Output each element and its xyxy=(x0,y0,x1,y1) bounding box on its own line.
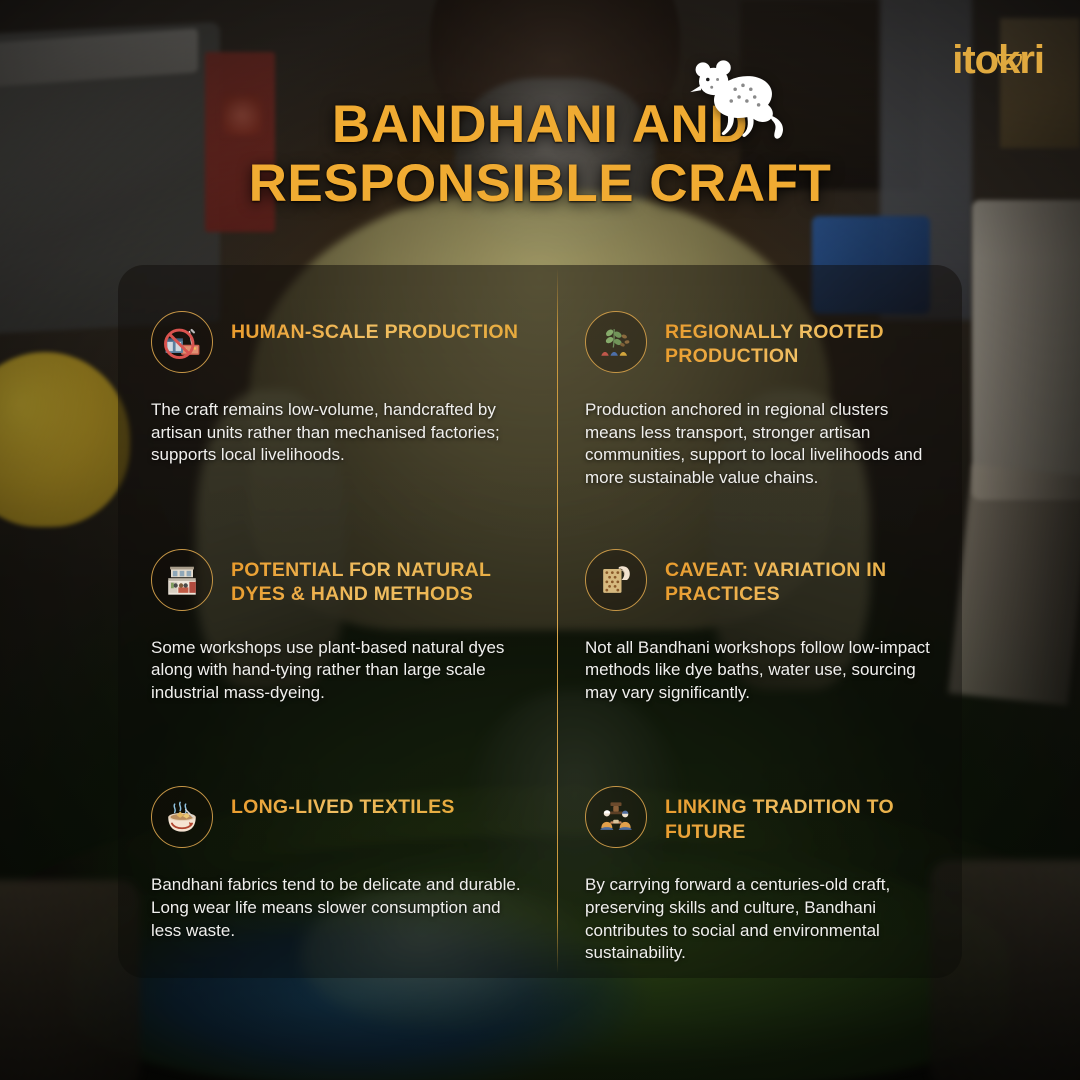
page-title: BANDHANI AND RESPONSIBLE CRAFT xyxy=(0,96,1080,214)
feature-body: Bandhani fabrics tend to be delicate and… xyxy=(151,874,527,942)
feature-body: Not all Bandhani workshops follow low-im… xyxy=(585,637,940,705)
two-artisans-icon xyxy=(585,786,647,848)
feature-title: LINKING TRADITION TO FUTURE xyxy=(665,786,940,843)
title-line-2: RESPONSIBLE CRAFT xyxy=(120,155,960,214)
feature-item-linking-tradition-to-future: LINKING TRADITION TO FUTURE By carrying … xyxy=(557,740,962,978)
feature-item-natural-dyes-hand-methods: POTENTIAL FOR NATURAL DYES & HAND METHOD… xyxy=(118,503,557,741)
feature-grid: HUMAN-SCALE PRODUCTION The craft remains… xyxy=(118,265,962,978)
feature-item-long-lived-textiles: LONG-LIVED TEXTILES Bandhani fabrics ten… xyxy=(118,740,557,978)
feature-body: Production anchored in regional clusters… xyxy=(585,399,940,489)
feature-header: LINKING TRADITION TO FUTURE xyxy=(585,786,940,848)
feature-body: The craft remains low-volume, handcrafte… xyxy=(151,399,527,467)
feature-item-regionally-rooted-production: REGIONALLY ROOTED PRODUCTION Production … xyxy=(557,265,962,503)
feature-header: CAVEAT: VARIATION IN PRACTICES xyxy=(585,549,940,611)
feature-item-human-scale-production: HUMAN-SCALE PRODUCTION The craft remains… xyxy=(118,265,557,503)
no-factory-icon xyxy=(151,311,213,373)
feature-title: REGIONALLY ROOTED PRODUCTION xyxy=(665,311,940,368)
brand-logo[interactable]: itokri xyxy=(952,40,1044,80)
seeds-and-dye-powders-icon xyxy=(585,311,647,373)
workshop-building-icon xyxy=(151,549,213,611)
feature-title: POTENTIAL FOR NATURAL DYES & HAND METHOD… xyxy=(231,549,527,606)
feature-header: POTENTIAL FOR NATURAL DYES & HAND METHOD… xyxy=(151,549,527,611)
feature-body: By carrying forward a centuries-old craf… xyxy=(585,874,940,964)
feature-title: CAVEAT: VARIATION IN PRACTICES xyxy=(665,549,940,606)
poster-title-block: BANDHANI AND RESPONSIBLE CRAFT xyxy=(0,96,1080,214)
infographic-poster: itokri BANDHANI AND RESPONSIBLE CRAFT xyxy=(0,0,1080,1080)
feature-item-caveat-variation: CAVEAT: VARIATION IN PRACTICES Not all B… xyxy=(557,503,962,741)
feature-header: LONG-LIVED TEXTILES xyxy=(151,786,527,848)
feature-title: HUMAN-SCALE PRODUCTION xyxy=(231,311,518,344)
title-line-1: BANDHANI AND xyxy=(120,96,960,155)
feature-title: LONG-LIVED TEXTILES xyxy=(231,786,455,819)
feature-body: Some workshops use plant-based natural d… xyxy=(151,637,527,705)
feature-header: REGIONALLY ROOTED PRODUCTION xyxy=(585,311,940,373)
mouse-motif-icon xyxy=(688,56,796,142)
hand-holding-fabric-swatch-icon xyxy=(585,549,647,611)
steaming-dye-pot-icon xyxy=(151,786,213,848)
feature-header: HUMAN-SCALE PRODUCTION xyxy=(151,311,527,373)
